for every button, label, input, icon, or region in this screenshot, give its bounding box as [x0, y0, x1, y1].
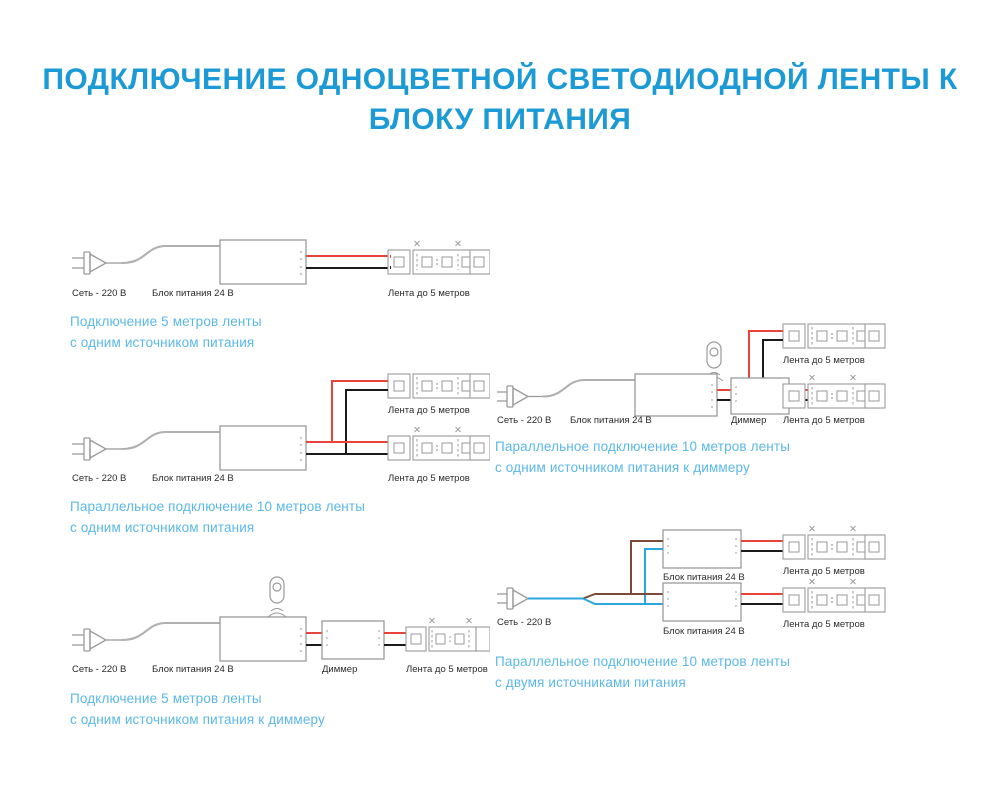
label-psu: Блок питания 24 В — [663, 626, 745, 637]
mains-cord — [122, 246, 220, 263]
diagram-caption: Подключение 5 метров ленты с одним источ… — [70, 689, 490, 730]
label-strip: Лента до 5 метров — [388, 288, 470, 298]
diagram-parallel-10m-one-psu: Лента до 5 метров — [70, 368, 490, 538]
power-plug-icon — [497, 588, 528, 609]
diagram-caption: Подключение 5 метров ленты с одним источ… — [70, 312, 490, 353]
label-strip: Лента до 5 метров — [388, 405, 470, 416]
label-psu: Блок питания 24 В — [152, 473, 234, 483]
label-psu: Блок питания 24 В — [152, 288, 234, 298]
power-supply-icon — [663, 530, 741, 568]
power-plug-icon — [72, 629, 122, 651]
led-strip-icon — [783, 526, 885, 559]
label-dimmer: Диммер — [322, 664, 357, 675]
label-psu: Блок питания 24 В — [663, 572, 745, 583]
diagram-parallel-10m-one-psu-dimmer: Лента до 5 метров — [495, 320, 945, 490]
label-mains: Сеть - 220 В — [72, 664, 126, 675]
power-supply-icon — [220, 617, 306, 661]
label-strip: Лента до 5 метров — [783, 355, 865, 366]
diagram-parallel-10m-two-psu: Блок питания 24 В Лента — [495, 522, 945, 702]
led-strip-icon — [783, 579, 885, 612]
diagram-single-5m-one-psu-dimmer: Сеть - 220 В Блок питания 24 В Диммер Ле… — [70, 575, 490, 695]
led-strip-icon — [388, 241, 490, 274]
label-strip: Лента до 5 метров — [406, 664, 488, 675]
power-supply-icon — [663, 583, 741, 621]
led-strip-icon — [388, 374, 490, 398]
label-mains: Сеть - 220 В — [497, 617, 551, 628]
dimmer-icon — [731, 378, 789, 414]
mains-cord — [543, 380, 635, 397]
label-mains: Сеть - 220 В — [72, 473, 126, 483]
led-strip-icon — [406, 618, 490, 651]
label-strip: Лента до 5 метров — [388, 473, 470, 483]
power-plug-icon — [72, 252, 122, 274]
power-plug-icon — [72, 438, 122, 460]
led-strip-icon — [783, 324, 885, 348]
page-title: ПОДКЛЮЧЕНИЕ ОДНОЦВЕТНОЙ СВЕТОДИОДНОЙ ЛЕН… — [0, 60, 1000, 139]
label-mains: Сеть - 220 В — [497, 415, 551, 425]
led-strip-icon — [388, 427, 490, 460]
led-strip-icon — [783, 375, 885, 408]
label-mains: Сеть - 220 В — [72, 288, 126, 298]
wire-neutral-blue — [645, 549, 663, 604]
label-strip: Лента до 5 метров — [783, 619, 865, 630]
label-psu: Блок питания 24 В — [570, 415, 652, 425]
mains-cord — [122, 432, 220, 449]
power-supply-icon — [220, 240, 306, 284]
power-supply-icon — [220, 426, 306, 470]
label-dimmer: Диммер — [731, 415, 766, 425]
diagram-single-5m-one-psu: Сеть - 220 В Блок питания 24 В Лента до … — [70, 238, 490, 348]
power-plug-icon — [497, 386, 543, 407]
label-strip: Лента до 5 метров — [783, 415, 865, 425]
diagram-caption: Параллельное подключение 10 метров ленты… — [495, 652, 945, 693]
label-strip: Лента до 5 метров — [783, 566, 865, 577]
dimmer-icon — [322, 621, 384, 659]
label-psu: Блок питания 24 В — [152, 664, 234, 675]
remote-control-icon — [268, 577, 286, 617]
power-supply-icon — [635, 374, 717, 416]
wire-negative — [346, 390, 388, 454]
diagram-caption: Параллельное подключение 10 метров ленты… — [70, 497, 490, 538]
mains-cord — [122, 623, 220, 640]
diagram-caption: Параллельное подключение 10 метров ленты… — [495, 437, 945, 478]
wire-neutral-blue — [528, 599, 663, 605]
